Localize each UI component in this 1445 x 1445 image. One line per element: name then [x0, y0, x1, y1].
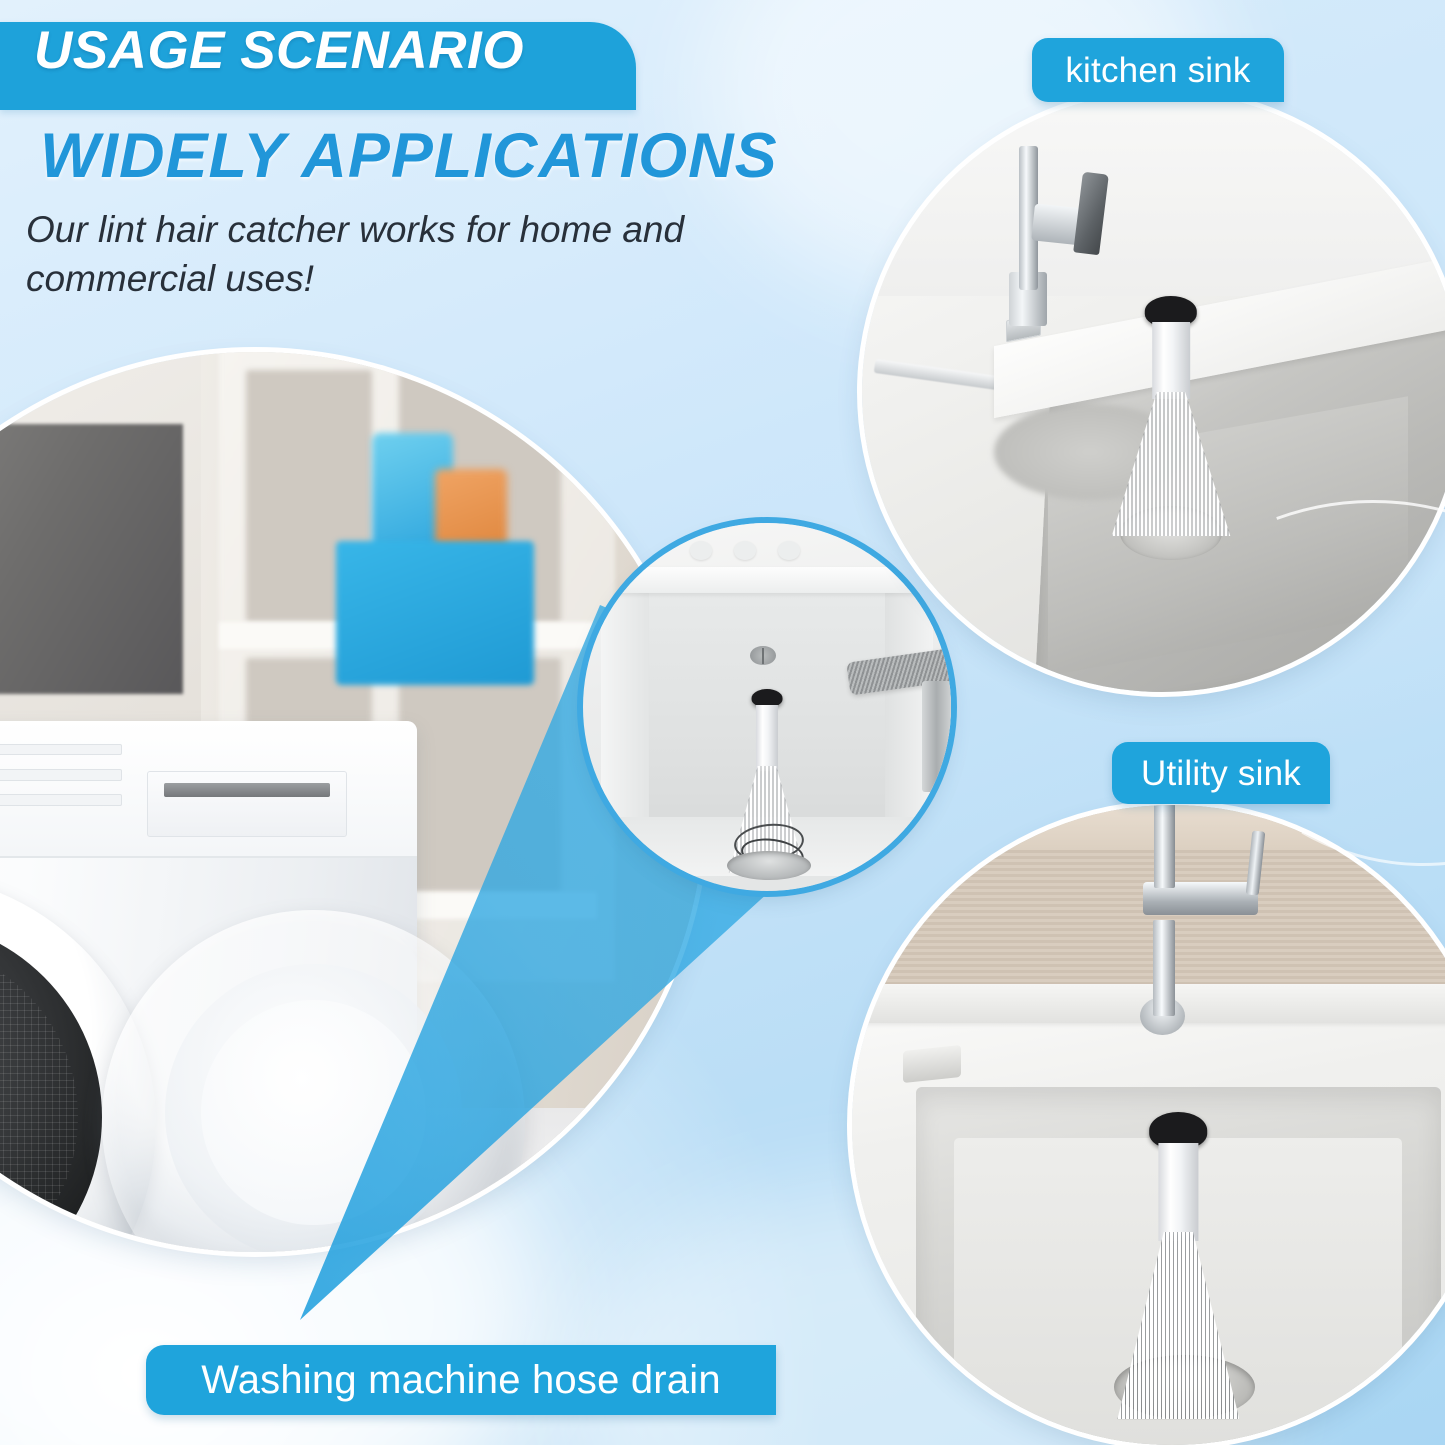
- catcher-bristle-skirt: [1117, 1232, 1239, 1419]
- badge-utility-sink: Utility sink: [1112, 742, 1330, 804]
- utility-faucet-column: [1154, 805, 1174, 888]
- utility-faucet-neck: [1153, 920, 1175, 1016]
- badge-washing-machine-hose-drain: Washing machine hose drain: [146, 1345, 776, 1415]
- catcher-bristle-skirt: [1112, 392, 1231, 536]
- badge-kitchen-sink: kitchen sink: [1032, 38, 1284, 102]
- page-subtitle: Our lint hair catcher works for home and…: [26, 206, 786, 304]
- washer-door-glass-core: [201, 1000, 426, 1225]
- laundry-cubby: [399, 658, 561, 892]
- product-infographic: USAGE SCENARIO WIDELY APPLICATIONS Our l…: [0, 0, 1445, 1445]
- catcher-neck: [1159, 1143, 1198, 1241]
- catcher-neck: [1152, 322, 1190, 399]
- page-headline: WIDELY APPLICATIONS: [40, 120, 778, 192]
- control-slot: [0, 769, 122, 781]
- laundry-dark-window: [0, 424, 183, 694]
- standpipe: [922, 681, 951, 791]
- tub-cap: [734, 541, 756, 559]
- tub-cap: [690, 541, 712, 559]
- scene-kitchen-sink: [862, 92, 1445, 692]
- kitchen-wall: [862, 92, 1445, 296]
- tub-drain-ring: [727, 851, 812, 880]
- lint-hair-catcher: [1114, 296, 1228, 536]
- detergent-drawer: [147, 771, 347, 838]
- utility-tile-top-trim: [852, 805, 1445, 850]
- storage-bin: [336, 541, 534, 685]
- control-slot: [0, 744, 122, 756]
- lint-hair-catcher: [1121, 1112, 1236, 1419]
- control-slot: [0, 794, 122, 806]
- soap-tray: [903, 1045, 961, 1083]
- tub-cap: [778, 541, 800, 559]
- scene-utility-sink: [852, 805, 1445, 1445]
- catcher-neck: [756, 705, 778, 771]
- banner-title: USAGE SCENARIO: [34, 20, 524, 81]
